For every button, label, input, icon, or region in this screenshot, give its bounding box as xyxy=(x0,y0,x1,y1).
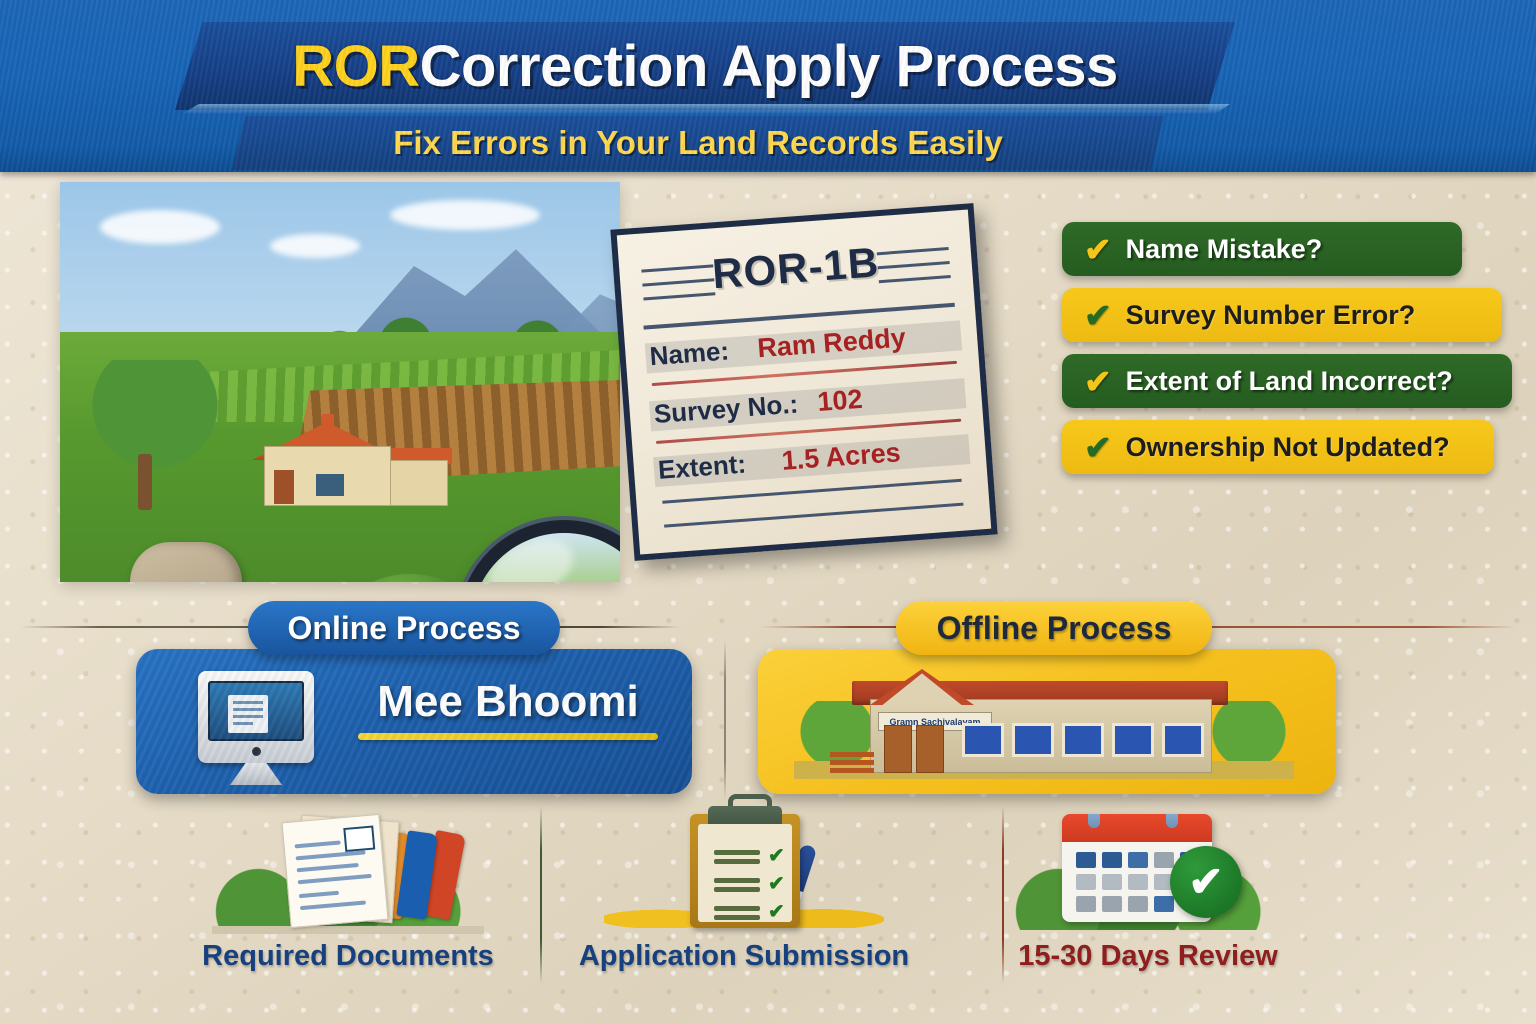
house-window xyxy=(314,472,346,498)
title-rest: Correction Apply Process xyxy=(420,33,1118,100)
online-process-card[interactable]: Mee Bhoomi xyxy=(136,649,692,794)
offline-process-pill[interactable]: Offline Process xyxy=(896,601,1212,655)
clipboard: ✔ ✔ ✔ xyxy=(690,814,800,928)
calendar-icon: ✔ xyxy=(998,804,1298,934)
step-label: Required Documents xyxy=(168,940,528,973)
infographic-canvas: ROR Correction Apply Process Fix Errors … xyxy=(0,0,1536,1024)
step-divider-1 xyxy=(540,806,542,984)
tree-trunk xyxy=(138,454,152,510)
ror-1b-document-card: ROR-1B Name: Ram Reddy Survey No.: 102 E… xyxy=(610,203,997,561)
checklist-item-name-mistake[interactable]: ✔ Name Mistake? xyxy=(1062,222,1462,276)
checklist-item-label: Ownership Not Updated? xyxy=(1126,432,1450,463)
calendar-ring xyxy=(1166,814,1178,828)
checklist-item-label: Name Mistake? xyxy=(1126,234,1323,265)
field-label: Name: xyxy=(649,335,731,372)
step-label: 15-30 Days Review xyxy=(968,940,1328,973)
building-door xyxy=(884,725,912,773)
house-door xyxy=(274,470,294,504)
field-label: Survey No.: xyxy=(653,389,799,430)
document-title: ROR-1B xyxy=(618,231,973,305)
farm-house-icon xyxy=(252,414,407,504)
approved-check-icon: ✔ xyxy=(1170,846,1242,918)
offline-process-card[interactable]: Gramn Sachivalayam xyxy=(758,649,1336,794)
decorative-rule xyxy=(664,503,963,528)
checklist-item-survey-number-error[interactable]: ✔ Survey Number Error? xyxy=(1062,288,1502,342)
paper-stack xyxy=(260,816,410,924)
building-window xyxy=(1012,723,1054,757)
step-label: Application Submission xyxy=(564,940,924,973)
calendar-header xyxy=(1062,814,1212,842)
field-value: 1.5 Acres xyxy=(781,437,902,477)
farmland-illustration: S.no 105 15 xyxy=(60,182,620,582)
checklist-item-extent-incorrect[interactable]: ✔ Extent of Land Incorrect? xyxy=(1062,354,1512,408)
tree-icon xyxy=(80,360,230,490)
stamp-icon xyxy=(343,825,375,852)
process-column-divider xyxy=(724,640,726,800)
mee-bhoomi-block: Mee Bhoomi xyxy=(348,677,668,740)
checklist-item-ownership-not-updated[interactable]: ✔ Ownership Not Updated? xyxy=(1062,420,1494,474)
header-banner: ROR Correction Apply Process Fix Errors … xyxy=(0,0,1536,172)
field-value: Ram Reddy xyxy=(756,322,906,364)
cloud-icon xyxy=(100,210,220,244)
online-portal-label: Mee Bhoomi xyxy=(348,677,668,727)
cloud-icon xyxy=(390,200,540,230)
documents-icon xyxy=(198,804,498,934)
title-highlight: ROR xyxy=(292,33,419,100)
monitor-bezel xyxy=(198,671,314,763)
check-icon: ✔ xyxy=(1084,299,1112,332)
check-icon: ✔ xyxy=(1084,365,1112,398)
bench-icon xyxy=(830,751,874,773)
page-subtitle: Fix Errors in Your Land Records Easily xyxy=(232,116,1164,170)
building-window xyxy=(1062,723,1104,757)
monitor-power-dot xyxy=(252,747,261,756)
online-process-label: Online Process xyxy=(288,610,521,647)
building-window xyxy=(1112,723,1154,757)
check-icon: ✔ xyxy=(1084,233,1112,266)
check-icon: ✔ xyxy=(1084,431,1112,464)
underline-accent xyxy=(358,733,658,740)
field-value: 102 xyxy=(816,384,863,418)
building-window xyxy=(1162,723,1204,757)
paper-sheet xyxy=(282,814,389,928)
monitor-stand xyxy=(230,763,282,785)
common-errors-checklist: ✔ Name Mistake? ✔ Survey Number Error? ✔… xyxy=(1062,222,1522,486)
monitor-screen xyxy=(208,681,304,741)
document-field-name: Name: Ram Reddy xyxy=(645,318,963,375)
document-field-survey-no: Survey No.: 102 xyxy=(649,376,967,433)
monitor-icon xyxy=(198,671,314,763)
field-label: Extent: xyxy=(657,449,747,486)
shelf xyxy=(212,926,484,934)
building-door xyxy=(916,725,944,773)
page-title: ROR Correction Apply Process xyxy=(175,22,1235,110)
clipboard-icon: ✔ ✔ ✔ xyxy=(594,804,894,934)
calendar-ring xyxy=(1088,814,1100,828)
checklist-item-label: Survey Number Error? xyxy=(1126,300,1416,331)
cloud-icon xyxy=(270,234,360,258)
document-icon xyxy=(228,695,268,733)
gram-sachivalayam-building-icon: Gramn Sachivalayam xyxy=(794,667,1294,779)
building-window xyxy=(962,723,1004,757)
annex-wall xyxy=(384,460,448,506)
online-process-pill[interactable]: Online Process xyxy=(248,601,560,655)
offline-process-label: Offline Process xyxy=(937,610,1172,647)
clipboard-page: ✔ ✔ ✔ xyxy=(698,824,792,922)
checklist-item-label: Extent of Land Incorrect? xyxy=(1126,366,1453,397)
